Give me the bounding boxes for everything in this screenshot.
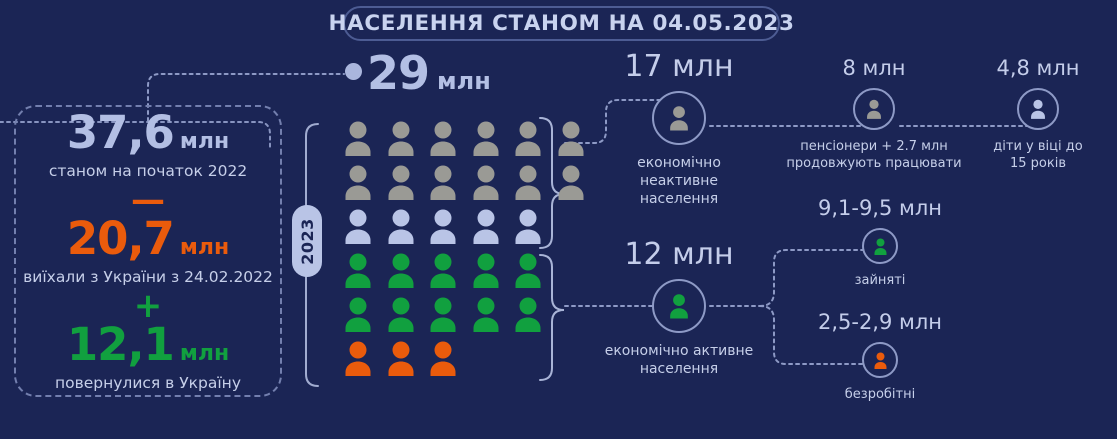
stat-departed: 20,7 млн	[67, 216, 229, 261]
icon-grid-row-lavender	[341, 208, 588, 246]
stat-unit: млн	[180, 343, 229, 365]
person-icon	[511, 296, 545, 334]
person-circle	[652, 91, 706, 145]
branch-caption: економічно активне населення	[605, 342, 754, 378]
person-icon	[426, 296, 460, 334]
branch-value: 4,8 млн	[996, 58, 1079, 79]
person-icon	[384, 164, 418, 202]
person-icon	[469, 120, 503, 158]
icon-grid-row-gray	[341, 164, 588, 202]
person-icon	[511, 120, 545, 158]
person-icon	[341, 208, 375, 246]
year-badge-label: 2023	[298, 218, 317, 265]
infographic-canvas: НАСЕЛЕННЯ СТАНОМ НА 04.05.2023 29 млн 37…	[0, 0, 1117, 439]
stat-unit: млн	[180, 131, 229, 153]
person-circle	[862, 342, 898, 378]
branch-caption: пенсіонери + 2.7 млн продовжують працюва…	[786, 139, 961, 173]
branch-value: 17 млн	[624, 52, 733, 82]
person-circle	[853, 88, 895, 130]
stat-returned-caption: повернулися в Україну	[55, 374, 241, 392]
person-icon	[384, 252, 418, 290]
person-icon	[554, 164, 588, 202]
branch-active-population: 12 млн економічно активне населення	[604, 240, 754, 378]
stat-value: 37,6	[67, 110, 174, 155]
branch-inactive-population: 17 млн економічно неактивне населення	[604, 52, 754, 209]
person-circle	[862, 228, 898, 264]
minus-operator-icon: —	[131, 189, 165, 213]
person-icon	[511, 252, 545, 290]
stat-2022-start: 37,6 млн	[67, 110, 229, 155]
page-title: НАСЕЛЕННЯ СТАНОМ НА 04.05.2023	[328, 11, 794, 36]
person-icon	[864, 98, 884, 120]
branch-unemployed: 2,5-2,9 млн безробітні	[800, 312, 960, 404]
person-icon	[341, 164, 375, 202]
person-icon	[554, 120, 588, 158]
person-icon	[426, 164, 460, 202]
branch-caption: діти у віці до 15 років	[993, 139, 1082, 173]
person-icon	[384, 120, 418, 158]
person-icon	[469, 164, 503, 202]
person-icon	[872, 237, 889, 256]
stat-unit: млн	[180, 237, 229, 259]
person-icon	[666, 104, 692, 132]
icon-grid-row-gray	[341, 120, 588, 158]
person-icon	[341, 120, 375, 158]
branch-value: 2,5-2,9 млн	[818, 312, 942, 333]
icon-grid-row-green	[341, 296, 588, 334]
plus-operator-icon: +	[134, 295, 163, 319]
person-icon	[511, 208, 545, 246]
branch-employed: 9,1-9,5 млн зайняті	[800, 198, 960, 290]
person-icon	[469, 208, 503, 246]
person-icon	[384, 296, 418, 334]
icon-grid-row-green	[341, 252, 588, 290]
person-icon	[426, 208, 460, 246]
person-icon	[384, 208, 418, 246]
person-icon	[511, 164, 545, 202]
branch-value: 9,1-9,5 млн	[818, 198, 942, 219]
stat-returned: 12,1 млн	[67, 322, 229, 367]
person-icon	[384, 340, 418, 378]
branch-value: 12 млн	[624, 240, 733, 270]
person-circle	[1017, 88, 1059, 130]
population-change-panel: 37,6 млн станом на початок 2022 — 20,7 м…	[14, 105, 282, 397]
branch-caption: безробітні	[845, 387, 915, 404]
branch-value: 8 млн	[842, 58, 905, 79]
headline-value: 29	[367, 50, 429, 96]
stat-value: 20,7	[67, 216, 174, 261]
person-icon	[426, 340, 460, 378]
person-icon	[426, 252, 460, 290]
branch-pensioners: 8 млн пенсіонери + 2.7 млн продовжують п…	[784, 58, 964, 173]
person-icon	[666, 292, 692, 320]
person-icon	[341, 296, 375, 334]
person-icon	[1028, 98, 1048, 120]
person-circle	[652, 279, 706, 333]
bullet-dot-icon	[345, 63, 362, 80]
year-badge-2023: 2023	[292, 205, 322, 277]
person-icon	[341, 340, 375, 378]
branch-caption: зайняті	[855, 273, 906, 290]
icon-grid-row-orange	[341, 340, 588, 378]
population-icon-grid	[341, 120, 588, 384]
person-icon	[341, 252, 375, 290]
branch-children: 4,8 млн діти у віці до 15 років	[968, 58, 1108, 173]
person-icon	[872, 351, 889, 370]
headline-total-population: 29 млн	[345, 50, 491, 96]
person-icon	[469, 252, 503, 290]
header-title-pill: НАСЕЛЕННЯ СТАНОМ НА 04.05.2023	[343, 6, 780, 41]
branch-caption: економічно неактивне населення	[604, 154, 754, 209]
person-icon	[469, 296, 503, 334]
headline-unit: млн	[437, 67, 491, 95]
stat-value: 12,1	[67, 322, 174, 367]
stat-departed-caption: виїхали з України з 24.02.2022	[23, 268, 273, 286]
person-icon	[426, 120, 460, 158]
stat-2022-caption: станом на початок 2022	[49, 162, 247, 180]
